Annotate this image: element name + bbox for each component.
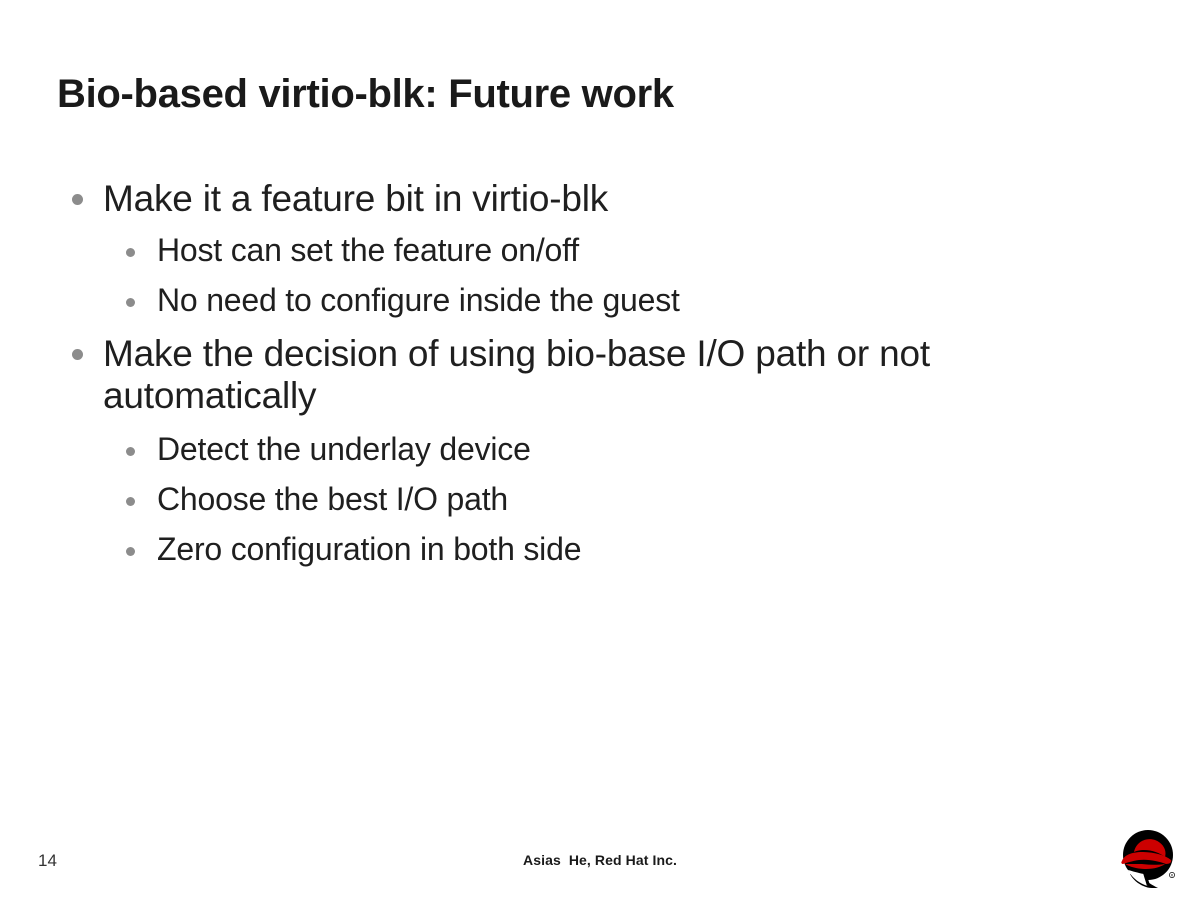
footer-attribution: Asias He, Red Hat Inc. — [0, 852, 1200, 868]
bullet-item-level1: Make the decision of using bio-base I/O … — [0, 333, 1200, 416]
bullet-item-level2: Choose the best I/O path — [0, 482, 1200, 518]
bullet-text: Choose the best I/O path — [157, 482, 508, 518]
bullet-dot-icon — [126, 298, 135, 307]
bullet-item-level2: Zero configuration in both side — [0, 532, 1200, 568]
bullet-dot-icon — [126, 447, 135, 456]
presentation-slide: Bio-based virtio-blk: Future work Make i… — [0, 0, 1200, 900]
bullet-list: Make it a feature bit in virtio-blk Host… — [0, 178, 1200, 581]
bullet-text: Host can set the feature on/off — [157, 233, 579, 269]
red-hat-shadowman-logo: R — [1114, 828, 1186, 890]
bullet-item-level1: Make it a feature bit in virtio-blk — [0, 178, 1200, 219]
bullet-dot-icon — [72, 349, 83, 360]
bullet-item-level2: No need to configure inside the guest — [0, 283, 1200, 319]
bullet-text: No need to configure inside the guest — [157, 283, 680, 319]
bullet-text: Make it a feature bit in virtio-blk — [103, 178, 608, 219]
bullet-text: Detect the underlay device — [157, 432, 531, 468]
slide-title: Bio-based virtio-blk: Future work — [57, 72, 1137, 116]
bullet-dot-icon — [126, 497, 135, 506]
bullet-text: Make the decision of using bio-base I/O … — [103, 333, 1120, 416]
bullet-dot-icon — [126, 248, 135, 257]
bullet-item-level2: Detect the underlay device — [0, 432, 1200, 468]
bullet-dot-icon — [126, 547, 135, 556]
bullet-dot-icon — [72, 194, 83, 205]
bullet-item-level2: Host can set the feature on/off — [0, 233, 1200, 269]
bullet-text: Zero configuration in both side — [157, 532, 581, 568]
